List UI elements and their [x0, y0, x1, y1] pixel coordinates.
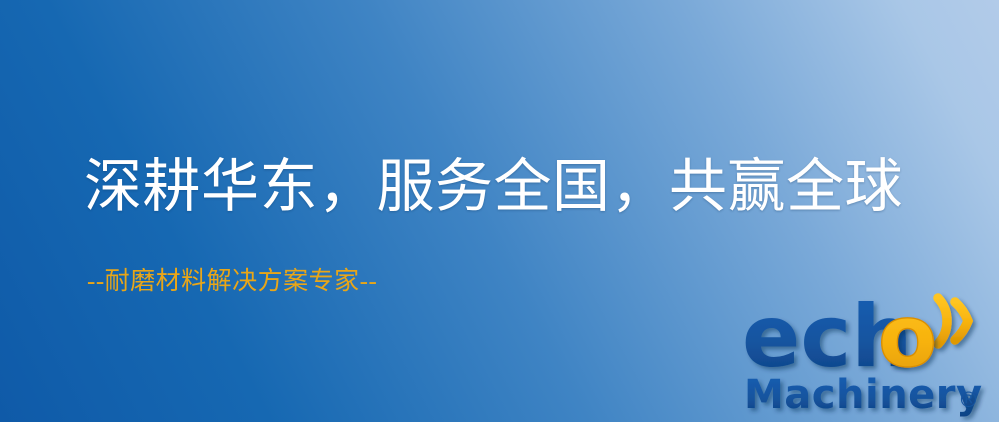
page-subtitle: --耐磨材料解决方案专家--	[87, 269, 377, 294]
logo-tagline: Machinery	[744, 372, 983, 418]
echo-wave-arcs	[938, 298, 968, 344]
echo-machinery-logo[interactable]: ech o Machinery ®	[742, 288, 994, 416]
page-title: 深耕华东，服务全国，共赢全球	[84, 158, 903, 216]
registered-trademark-icon: ®	[958, 388, 979, 412]
hero-banner: 深耕华东，服务全国，共赢全球 --耐磨材料解决方案专家--	[0, 0, 999, 422]
